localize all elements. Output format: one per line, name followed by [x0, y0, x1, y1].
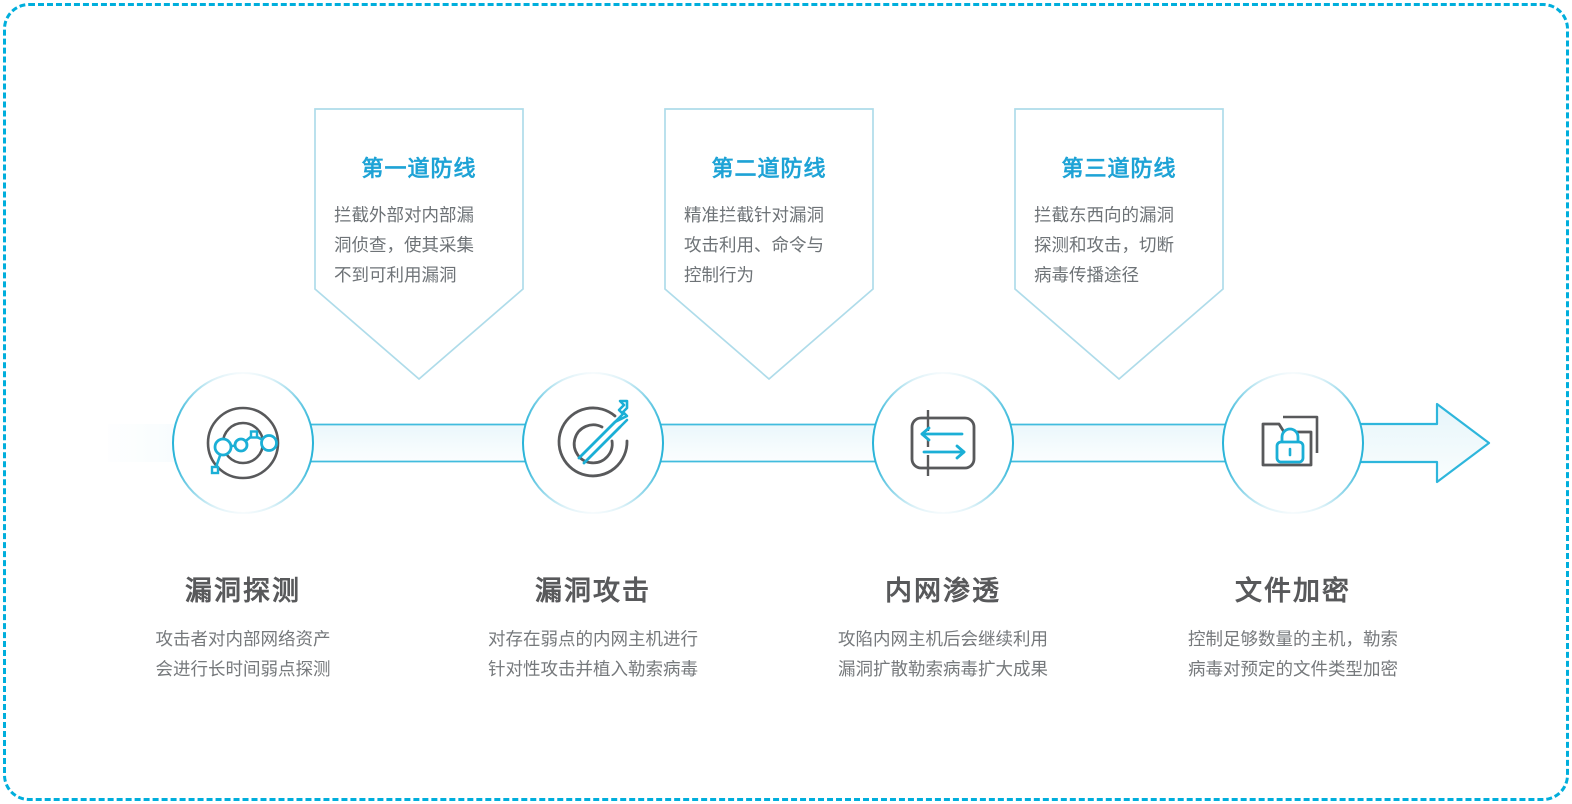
- defense-banner-line-2: 洞侦查，使其采集: [334, 235, 474, 255]
- defense-banner-line-2: 攻击利用、命令与: [684, 235, 824, 255]
- stage-title: 漏洞探测: [78, 578, 408, 605]
- defense-banner-title: 第三道防线: [1012, 158, 1226, 180]
- attack-progression-arrow: [1350, 404, 1489, 482]
- defense-banner-title: 第二道防线: [662, 158, 876, 180]
- defense-banner-1: 第一道防线 拦截外部对内部漏洞侦查，使其采集不到可利用漏洞: [312, 158, 526, 290]
- defense-banner-line-3: 不到可利用漏洞: [334, 265, 457, 285]
- defense-banner-line-1: 精准拦截针对漏洞: [684, 205, 824, 225]
- stage-label-1: 漏洞探测 攻击者对内部网络资产 会进行长时间弱点探测: [78, 578, 408, 684]
- stage-title: 内网渗透: [778, 578, 1108, 605]
- stage-description: 对存在弱点的内网主机进行 针对性攻击并植入勒索病毒: [428, 624, 758, 684]
- defense-banner-line-3: 控制行为: [684, 265, 754, 285]
- stage-description: 攻击者对内部网络资产 会进行长时间弱点探测: [78, 624, 408, 684]
- stage-label-2: 漏洞攻击 对存在弱点的内网主机进行 针对性攻击并植入勒索病毒: [428, 578, 758, 684]
- defense-banner-line-2: 探测和攻击，切断: [1034, 235, 1174, 255]
- stage-title: 文件加密: [1128, 578, 1458, 605]
- defense-banner-title: 第一道防线: [312, 158, 526, 180]
- defense-banner-body: 拦截东西向的漏洞探测和攻击，切断病毒传播途径: [1012, 200, 1226, 290]
- defense-banner-body: 精准拦截针对漏洞攻击利用、命令与控制行为: [662, 200, 876, 290]
- defense-banner-line-1: 拦截东西向的漏洞: [1034, 205, 1174, 225]
- stage-description: 控制足够数量的主机，勒索 病毒对预定的文件类型加密: [1128, 624, 1458, 684]
- stage-label-4: 文件加密 控制足够数量的主机，勒索 病毒对预定的文件类型加密: [1128, 578, 1458, 684]
- ransomware-attack-chain-diagram: 第一道防线 拦截外部对内部漏洞侦查，使其采集不到可利用漏洞 第二道防线 精准拦截…: [0, 0, 1572, 804]
- defense-banner-line-3: 病毒传播途径: [1034, 265, 1139, 285]
- stage-description: 攻陷内网主机后会继续利用 漏洞扩散勒索病毒扩大成果: [778, 624, 1108, 684]
- stage-circle-3: [873, 373, 1013, 513]
- stage-title: 漏洞攻击: [428, 578, 758, 605]
- stage-label-3: 内网渗透 攻陷内网主机后会继续利用 漏洞扩散勒索病毒扩大成果: [778, 578, 1108, 684]
- defense-banner-body: 拦截外部对内部漏洞侦查，使其采集不到可利用漏洞: [312, 200, 526, 290]
- defense-banner-3: 第三道防线 拦截东西向的漏洞探测和攻击，切断病毒传播途径: [1012, 158, 1226, 290]
- defense-banner-2: 第二道防线 精准拦截针对漏洞攻击利用、命令与控制行为: [662, 158, 876, 290]
- defense-banner-line-1: 拦截外部对内部漏: [334, 205, 474, 225]
